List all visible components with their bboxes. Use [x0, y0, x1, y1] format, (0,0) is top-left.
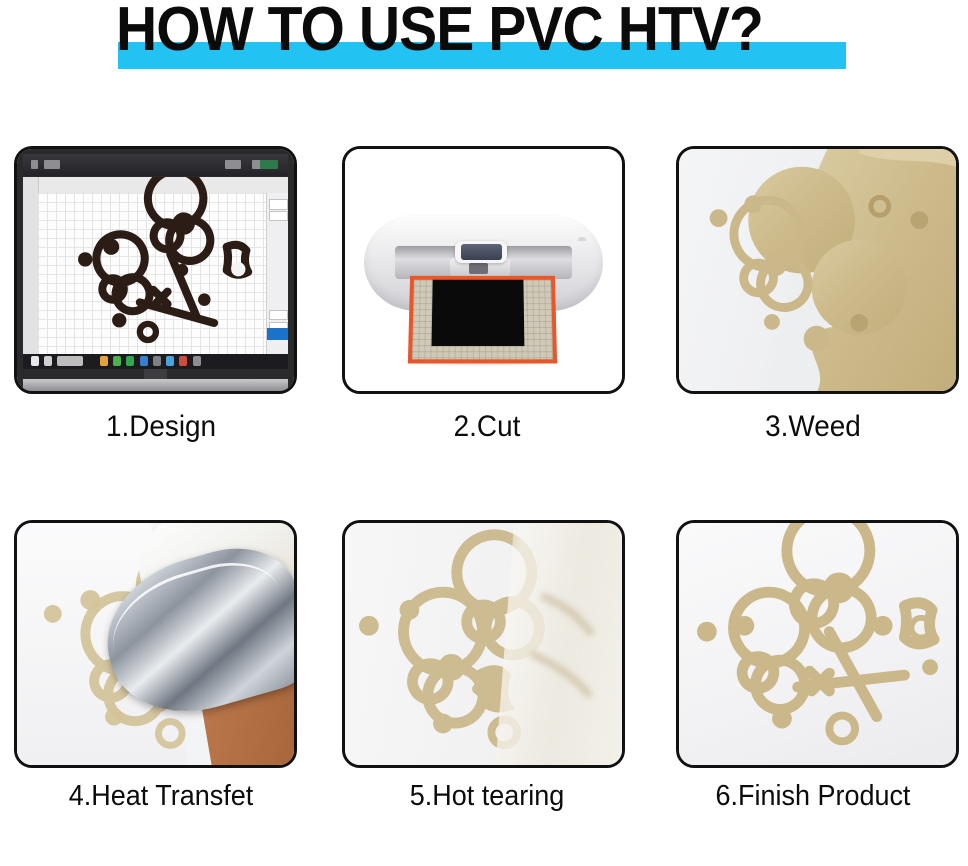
page-header: HOW TO USE PVC HTV? [0, 0, 968, 118]
step-image-hot-tearing [342, 520, 625, 768]
monitor-photo [17, 149, 294, 391]
peeling-carrier-photo [345, 523, 622, 765]
step-caption-design: 1.Design [11, 410, 310, 444]
software-right-panel [266, 193, 288, 356]
step-card-finish-product: 6.Finish Product [652, 492, 968, 866]
machine-touchscreen[interactable] [455, 241, 507, 262]
step-caption-finish-product: 6.Finish Product [663, 780, 962, 813]
canvas-grid [38, 193, 267, 356]
step-card-weed: 3.Weed [652, 118, 968, 492]
canvas-ruler-vertical [23, 177, 40, 356]
step-image-weed [676, 146, 959, 394]
steps-row-bottom: 4.Heat Transfet [0, 492, 968, 866]
finished-product-photo [679, 523, 956, 765]
touchscreen-display [461, 244, 502, 259]
step-image-cut [342, 146, 625, 394]
step-caption-hot-tearing: 5.Hot tearing [337, 780, 636, 813]
steps-grid: 1.Design [0, 118, 968, 866]
heat-press-photo [17, 523, 294, 765]
excess-vinyl-sheet [679, 149, 956, 391]
page-title: HOW TO USE PVC HTV? [116, 0, 763, 64]
step-image-design [14, 146, 297, 394]
os-taskbar [23, 354, 289, 370]
software-titlebar [23, 154, 289, 176]
black-vinyl-sheet [432, 280, 524, 346]
cutting-machine-photo [345, 149, 622, 391]
steps-row-top: 1.Design [0, 118, 968, 492]
step-image-finish-product [676, 520, 959, 768]
step-card-heat-transfer: 4.Heat Transfet [0, 492, 322, 866]
step-card-hot-tearing: 5.Hot tearing [326, 492, 648, 866]
step-caption-cut: 2.Cut [337, 410, 636, 444]
machine-knob[interactable] [578, 237, 586, 242]
canvas-ruler-horizontal [23, 177, 289, 194]
step-caption-heat-transfer: 4.Heat Transfet [11, 780, 310, 813]
machine-cutting-head [469, 263, 488, 275]
step-image-heat-transfer [14, 520, 297, 768]
monitor-base [23, 379, 289, 391]
software-canvas [23, 177, 289, 356]
step-caption-weed: 3.Weed [663, 410, 962, 444]
weeding-photo [679, 149, 956, 391]
step-card-design: 1.Design [0, 118, 322, 492]
blurred-design-through-film [511, 567, 616, 722]
cutting-mat [408, 276, 557, 363]
right-panel-highlight [267, 328, 288, 339]
step-card-cut: 2.Cut [326, 118, 648, 492]
finished-gold-design [679, 523, 956, 765]
